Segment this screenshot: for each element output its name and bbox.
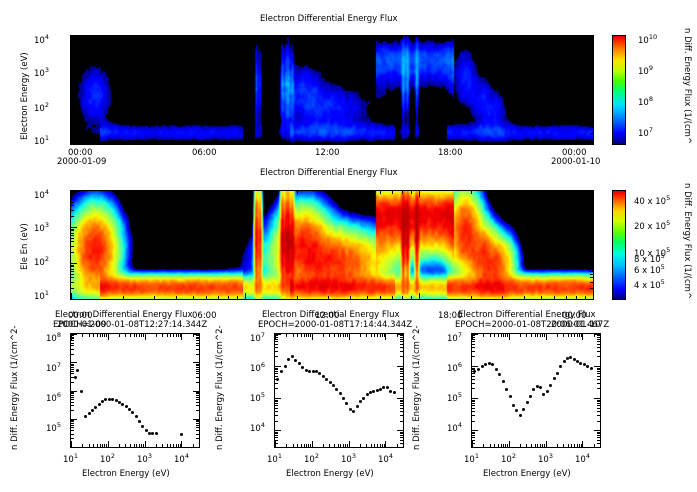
tick-mark: [71, 230, 74, 231]
data-point: [590, 367, 593, 370]
tick-mark: [524, 191, 525, 194]
tick-mark: [587, 72, 593, 73]
tick-mark: [237, 191, 238, 194]
tick-mark: [471, 141, 472, 144]
spectrum-0-ylabel: n Diff. Energy Flux (1/(cm^2-: [10, 325, 20, 450]
tick-mark: [576, 296, 577, 299]
tick-mark: [590, 55, 593, 56]
tick-mark: [542, 334, 543, 337]
tick-mark: [71, 340, 74, 341]
panel-2-plot-area: [70, 190, 594, 300]
tick-mark: [566, 296, 567, 299]
tick-mark: [400, 356, 403, 357]
data-point: [372, 390, 375, 393]
tick-mark: [71, 293, 72, 299]
spectrogram-image: [71, 36, 593, 144]
tick-mark: [472, 335, 475, 336]
panel-1-cbar-tick-2: 108: [638, 95, 653, 108]
tick-mark: [597, 440, 600, 441]
tick-mark: [71, 354, 74, 355]
tick-mark: [286, 334, 287, 337]
data-point: [473, 370, 476, 373]
tick-mark: [71, 392, 74, 393]
tick-mark: [71, 349, 74, 350]
data-point: [342, 397, 345, 400]
tick-mark: [597, 383, 600, 384]
tick-mark: [275, 351, 278, 352]
tick-mark: [366, 334, 367, 337]
tick-mark: [585, 191, 586, 194]
data-point: [389, 390, 392, 393]
tick-mark: [472, 435, 475, 436]
tick-mark: [590, 44, 593, 45]
tick-mark: [275, 447, 278, 448]
tick-mark: [590, 277, 593, 278]
panel-1-ylabel: Electron Energy (eV): [20, 52, 30, 140]
tick-mark: [557, 444, 558, 447]
tick-mark: [71, 277, 74, 278]
tick-mark: [590, 265, 593, 266]
tick-mark: [237, 36, 238, 39]
tick-mark: [173, 334, 174, 337]
tick-mark: [537, 334, 538, 337]
data-point: [366, 393, 369, 396]
tick-mark: [71, 382, 74, 383]
tick-mark: [472, 430, 478, 431]
tick-mark: [71, 430, 74, 431]
tick-mark: [176, 334, 177, 337]
tick-mark: [71, 108, 77, 109]
tick-mark: [419, 191, 420, 197]
tick-mark: [301, 444, 302, 447]
tick-mark: [100, 444, 101, 447]
tick-mark: [71, 399, 74, 400]
tick-mark: [173, 444, 174, 447]
tick-mark: [71, 210, 74, 211]
tick-mark: [411, 296, 412, 299]
tick-mark: [71, 420, 74, 421]
tick-mark: [228, 141, 229, 144]
tick-mark: [590, 266, 593, 267]
tick-mark: [338, 444, 339, 447]
tick-mark: [196, 337, 199, 338]
tick-mark: [196, 393, 199, 394]
tick-mark: [176, 444, 177, 447]
spectrum-0-xtick-0: 101: [63, 452, 78, 465]
tick-mark: [199, 444, 200, 447]
spectrum-2-ytick-3: 104: [447, 421, 462, 434]
tick-mark: [301, 334, 302, 337]
tick-mark: [590, 127, 593, 128]
tick-mark: [541, 36, 542, 39]
tick-mark: [130, 334, 131, 337]
tick-mark: [574, 444, 575, 447]
data-point: [301, 366, 304, 369]
tick-mark: [585, 141, 586, 144]
tick-mark: [141, 444, 142, 447]
tick-mark: [71, 266, 74, 267]
tick-mark: [571, 334, 572, 337]
tick-mark: [167, 334, 168, 337]
tick-mark: [594, 398, 600, 399]
tick-mark: [377, 444, 378, 447]
tick-mark: [597, 408, 600, 409]
tick-mark: [503, 334, 504, 337]
tick-mark: [71, 447, 77, 448]
tick-mark: [193, 447, 199, 448]
tick-mark: [400, 383, 403, 384]
tick-mark: [472, 432, 475, 433]
tick-mark: [328, 296, 329, 299]
tick-mark: [400, 433, 403, 434]
tick-mark: [71, 72, 77, 73]
tick-mark: [71, 138, 72, 144]
tick-mark: [509, 441, 510, 447]
tick-mark: [275, 443, 278, 444]
spectrum-1-xtick-1: 102: [304, 452, 319, 465]
tick-mark: [71, 116, 74, 117]
data-point: [84, 415, 87, 418]
tick-mark: [542, 444, 543, 447]
spectrum-1-epoch: EPOCH=2000-01-08T17:14:44.344Z: [258, 320, 412, 330]
tick-mark: [400, 411, 403, 412]
tick-mark: [535, 334, 536, 337]
tick-mark: [134, 334, 135, 337]
tick-mark: [71, 235, 74, 236]
tick-mark: [275, 383, 278, 384]
tick-mark: [557, 334, 558, 337]
data-point: [294, 359, 297, 362]
data-point: [138, 420, 141, 423]
tick-mark: [419, 36, 420, 42]
tick-mark: [108, 441, 109, 447]
tick-mark: [71, 337, 74, 338]
tick-mark: [597, 373, 600, 374]
tick-mark: [472, 401, 475, 402]
tick-mark: [71, 194, 74, 195]
tick-mark: [392, 36, 393, 39]
tick-mark: [502, 141, 503, 144]
tick-mark: [597, 403, 600, 404]
data-point: [386, 386, 389, 389]
spectrum-0-ytick-1: 107: [46, 361, 61, 374]
tick-mark: [345, 334, 346, 337]
tick-mark: [71, 110, 74, 111]
tick-mark: [594, 444, 595, 447]
tick-mark: [350, 141, 351, 144]
spectrum-0-xtick-3: 104: [174, 452, 189, 465]
tick-mark: [323, 444, 324, 447]
tick-mark: [71, 83, 74, 84]
tick-mark: [181, 441, 182, 447]
tick-mark: [524, 141, 525, 144]
tick-mark: [275, 334, 281, 335]
tick-mark: [71, 111, 74, 112]
tick-mark: [71, 86, 74, 87]
tick-mark: [71, 265, 74, 266]
tick-mark: [597, 415, 600, 416]
data-point: [76, 369, 79, 372]
tick-mark: [71, 369, 74, 370]
tick-mark: [286, 444, 287, 447]
tick-mark: [275, 341, 278, 342]
tick-mark: [196, 373, 199, 374]
tick-mark: [520, 444, 521, 447]
tick-mark: [505, 444, 506, 447]
tick-mark: [71, 338, 74, 339]
tick-mark: [170, 334, 171, 337]
tick-mark: [237, 141, 238, 144]
tick-mark: [196, 349, 199, 350]
tick-mark: [576, 36, 577, 39]
tick-mark: [590, 233, 593, 234]
tick-mark: [350, 296, 351, 299]
tick-mark: [541, 141, 542, 144]
data-point: [553, 377, 556, 380]
data-point: [362, 397, 365, 400]
tick-mark: [340, 334, 341, 337]
tick-mark: [597, 435, 600, 436]
tick-mark: [554, 36, 555, 39]
tick-mark: [145, 334, 146, 340]
tick-mark: [82, 444, 83, 447]
tick-mark: [108, 334, 109, 340]
tick-mark: [400, 437, 403, 438]
tick-mark: [367, 36, 368, 39]
panel-1-ytick-0: 104: [34, 33, 49, 46]
tick-mark: [275, 401, 278, 402]
tick-mark: [554, 141, 555, 144]
tick-mark: [218, 191, 219, 194]
tick-mark: [597, 368, 600, 369]
data-point: [539, 386, 542, 389]
tick-mark: [71, 241, 74, 242]
tick-mark: [590, 210, 593, 211]
tick-mark: [597, 447, 600, 448]
tick-mark: [587, 263, 593, 264]
tick-mark: [275, 405, 278, 406]
tick-mark: [597, 341, 600, 342]
tick-mark: [123, 296, 124, 299]
panel-1-ytick-1: 103: [34, 66, 49, 79]
tick-mark: [360, 334, 361, 337]
spectrum-2-epoch: EPOCH=2000-01-08T20:06:01.467Z: [455, 320, 609, 330]
panel-2-ytick-1: 103: [34, 221, 49, 234]
tick-mark: [400, 335, 403, 336]
tick-mark: [162, 444, 163, 447]
tick-mark: [472, 339, 475, 340]
data-point: [502, 380, 505, 383]
tick-mark: [400, 379, 403, 380]
panel-1-xtick-2: 12:00: [315, 148, 340, 158]
tick-mark: [196, 340, 199, 341]
tick-mark: [367, 141, 368, 144]
tick-mark: [71, 393, 74, 394]
spectrum-2-plot-area: [471, 333, 601, 448]
tick-mark: [323, 334, 324, 337]
tick-mark: [380, 36, 381, 39]
tick-mark: [554, 296, 555, 299]
tick-mark: [502, 36, 503, 39]
spectrum-1-ylabel: n Diff. Energy Flux (1/(cm^2-: [215, 325, 225, 450]
data-point: [542, 393, 545, 396]
spectrum-1-ytick-3: 104: [250, 421, 265, 434]
data-point: [318, 372, 321, 375]
tick-mark: [104, 444, 105, 447]
tick-mark: [123, 191, 124, 194]
tick-mark: [471, 296, 472, 299]
tick-mark: [472, 383, 475, 384]
panel-2-ytick-3: 101: [34, 289, 49, 302]
tick-mark: [380, 444, 381, 447]
tick-mark: [71, 419, 77, 420]
tick-mark: [590, 83, 593, 84]
tick-mark: [400, 347, 403, 348]
tick-mark: [306, 334, 307, 337]
tick-mark: [472, 366, 478, 367]
tick-mark: [71, 438, 74, 439]
tick-mark: [397, 430, 403, 431]
tick-mark: [334, 444, 335, 447]
data-point: [88, 412, 91, 415]
tick-mark: [119, 444, 120, 447]
tick-mark: [71, 252, 74, 253]
data-point: [345, 402, 348, 405]
data-point: [356, 405, 359, 408]
data-point: [284, 365, 287, 368]
tick-mark: [397, 334, 403, 335]
tick-mark: [275, 373, 278, 374]
tick-mark: [397, 366, 403, 367]
tick-mark: [297, 444, 298, 447]
tick-mark: [472, 344, 475, 345]
panel-2-colorbar-label: n Diff. Energy Flux (1/(cm^: [682, 183, 692, 299]
tick-mark: [577, 334, 578, 337]
spectrum-0-xlabel: Electron Energy (eV): [82, 469, 170, 479]
tick-mark: [228, 296, 229, 299]
tick-mark: [472, 437, 475, 438]
tick-mark: [196, 369, 199, 370]
spectrum-1-ytick-1: 106: [250, 361, 265, 374]
tick-mark: [590, 202, 593, 203]
spectrogram-image: [71, 191, 593, 299]
tick-mark: [400, 401, 403, 402]
data-point: [526, 401, 529, 404]
tick-mark: [154, 296, 155, 299]
data-point: [586, 365, 589, 368]
tick-mark: [402, 191, 403, 194]
tick-mark: [275, 388, 278, 389]
tick-mark: [546, 441, 547, 447]
tick-mark: [509, 334, 510, 340]
tick-mark: [568, 444, 569, 447]
data-point: [559, 365, 562, 368]
tick-mark: [400, 368, 403, 369]
tick-mark: [71, 343, 74, 344]
tick-mark: [141, 334, 142, 337]
spectrum-2-ytick-2: 105: [447, 391, 462, 404]
tick-mark: [531, 334, 532, 337]
tick-mark: [537, 444, 538, 447]
tick-mark: [71, 97, 74, 98]
tick-mark: [472, 403, 475, 404]
tick-mark: [275, 368, 278, 369]
spectrum-2-ytick-1: 106: [447, 361, 462, 374]
data-point: [98, 403, 101, 406]
tick-mark: [587, 144, 593, 145]
tick-mark: [71, 80, 74, 81]
tick-mark: [196, 345, 199, 346]
tick-mark: [590, 78, 593, 79]
tick-mark: [590, 246, 593, 247]
tick-mark: [275, 371, 278, 372]
tick-mark: [590, 133, 593, 134]
tick-mark: [312, 441, 313, 447]
tick-mark: [228, 191, 229, 194]
tick-mark: [206, 296, 207, 299]
tick-mark: [566, 191, 567, 194]
tick-mark: [71, 74, 74, 75]
tick-mark: [597, 376, 600, 377]
tick-mark: [71, 397, 74, 398]
tick-mark: [402, 36, 403, 39]
tick-mark: [193, 296, 194, 299]
tick-mark: [196, 377, 199, 378]
tick-mark: [366, 444, 367, 447]
data-point: [180, 433, 183, 436]
tick-mark: [206, 191, 207, 194]
tick-mark: [568, 334, 569, 337]
tick-mark: [576, 141, 577, 144]
tick-mark: [400, 432, 403, 433]
tick-mark: [597, 401, 600, 402]
tick-mark: [471, 36, 472, 39]
data-point: [495, 368, 498, 371]
tick-mark: [371, 334, 372, 337]
tick-mark: [71, 75, 74, 76]
data-point: [125, 405, 128, 408]
tick-mark: [472, 400, 475, 401]
panel-1-title: Electron Differential Energy Flux: [260, 14, 398, 24]
tick-mark: [400, 369, 403, 370]
tick-mark: [566, 141, 567, 144]
data-point: [498, 373, 501, 376]
tick-mark: [71, 334, 77, 335]
tick-mark: [293, 334, 294, 337]
spectrum-0-title: Electron Differential Energy Flux: [55, 310, 193, 320]
tick-mark: [82, 334, 83, 337]
data-point: [329, 381, 332, 384]
tick-mark: [193, 141, 194, 144]
tick-mark: [472, 443, 475, 444]
panel-1-colorbar: [612, 35, 626, 145]
spectrum-0-xtick-2: 103: [137, 452, 152, 465]
tick-mark: [329, 334, 330, 337]
tick-mark: [196, 438, 199, 439]
tick-mark: [400, 435, 403, 436]
tick-mark: [367, 191, 368, 194]
tick-mark: [178, 334, 179, 337]
tick-mark: [587, 227, 593, 228]
tick-mark: [71, 55, 74, 56]
tick-mark: [526, 444, 527, 447]
tick-mark: [590, 238, 593, 239]
tick-mark: [400, 405, 403, 406]
spectrum-2-xtick-0: 101: [464, 452, 479, 465]
tick-mark: [494, 444, 495, 447]
tick-mark: [71, 345, 74, 346]
tick-mark: [400, 421, 403, 422]
